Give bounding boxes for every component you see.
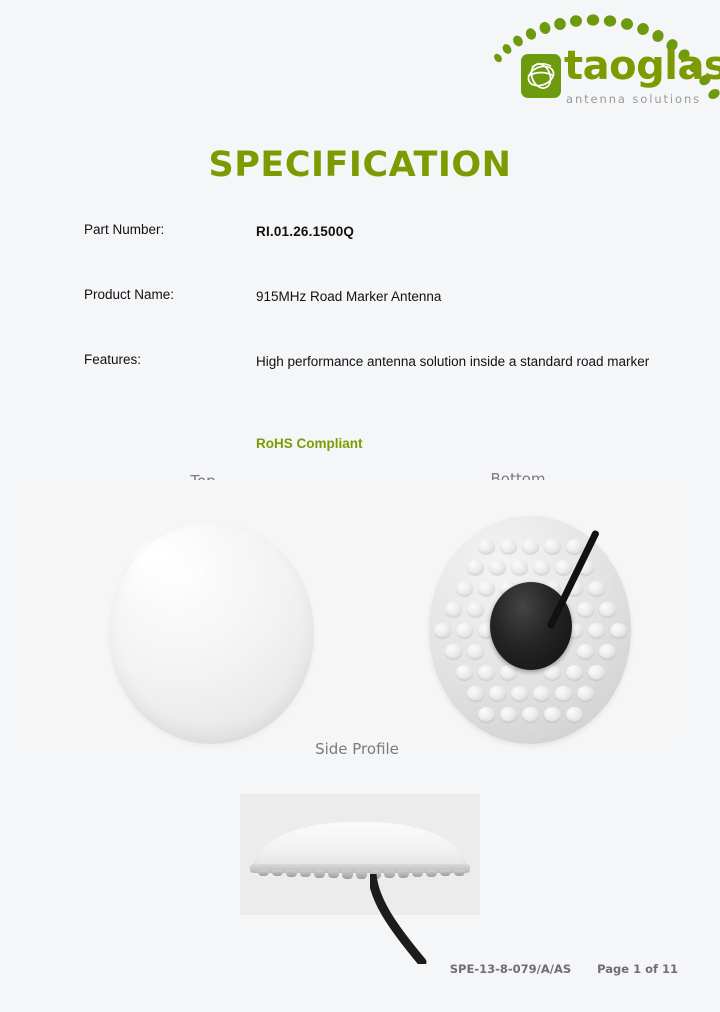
underside-dimple xyxy=(588,665,605,680)
dome-highlight-glare xyxy=(132,538,192,578)
base-dimple xyxy=(328,870,339,878)
base-dimple xyxy=(342,870,353,879)
product-photo-side-profile xyxy=(240,794,480,915)
taoglas-leaf-globe-mark xyxy=(521,54,561,98)
underside-dimple xyxy=(599,602,616,617)
underside-dimple xyxy=(456,581,473,596)
antenna-center-black-dome xyxy=(490,582,572,670)
underside-dimple xyxy=(445,644,462,659)
underside-dimple xyxy=(456,623,473,638)
underside-dimple xyxy=(588,581,605,596)
underside-dimple xyxy=(555,686,572,701)
underside-dimple xyxy=(577,602,594,617)
logo-tagline: antenna solutions xyxy=(566,92,701,106)
field-value-part-number: RI.01.26.1500Q xyxy=(256,222,656,242)
underside-dimple xyxy=(478,581,495,596)
field-label-features: Features: xyxy=(84,352,141,367)
underside-dimple xyxy=(467,644,484,659)
footer-document-code: SPE-13-8-079/A/AS xyxy=(450,962,571,976)
underside-dimple xyxy=(478,707,495,722)
underside-dimple xyxy=(566,539,583,554)
underside-dimple xyxy=(577,644,594,659)
rohs-compliance-badge: RoHS Compliant xyxy=(256,436,363,451)
underside-dimple xyxy=(533,686,550,701)
underside-dimple xyxy=(445,602,462,617)
product-photo-top xyxy=(22,480,438,738)
underside-dimple xyxy=(467,686,484,701)
underside-dimple xyxy=(566,665,583,680)
underside-dimple xyxy=(434,623,451,638)
page-footer: SPE-13-8-079/A/AS Page 1 of 11 xyxy=(0,962,720,976)
underside-dimple xyxy=(544,707,561,722)
footer-page-number: Page 1 of 11 xyxy=(597,962,678,976)
antenna-cable-side xyxy=(370,874,560,964)
underside-dimple xyxy=(566,707,583,722)
underside-dimple xyxy=(478,539,495,554)
base-dimple xyxy=(314,870,325,878)
underside-dimple xyxy=(533,560,550,575)
underside-dimple xyxy=(478,665,495,680)
underside-dimple xyxy=(544,539,561,554)
base-dimple xyxy=(300,870,311,877)
base-dimple xyxy=(286,870,297,877)
field-label-part-number: Part Number: xyxy=(84,222,164,237)
logo-wordmark: taoglas xyxy=(564,46,720,86)
base-dimple xyxy=(272,870,283,876)
brand-logo: taoglas antenna solutions xyxy=(488,8,720,116)
underside-dimple xyxy=(522,707,539,722)
underside-dimple xyxy=(500,539,517,554)
underside-dimple xyxy=(500,707,517,722)
underside-dimple xyxy=(577,686,594,701)
field-label-product-name: Product Name: xyxy=(84,287,174,302)
underside-dimple xyxy=(500,665,517,680)
base-dimple xyxy=(258,870,269,876)
view-label-side-profile: Side Profile xyxy=(297,740,417,758)
underside-dimple xyxy=(489,560,506,575)
field-value-product-name: 915MHz Road Marker Antenna xyxy=(256,287,656,307)
product-image-gallery: Top Bottom Side Profile xyxy=(0,462,720,922)
product-photo-bottom xyxy=(418,480,680,738)
underside-dimple xyxy=(511,560,528,575)
underside-dimple xyxy=(489,686,506,701)
underside-dimple xyxy=(555,560,572,575)
underside-dimple xyxy=(467,602,484,617)
underside-dimple xyxy=(467,560,484,575)
page-title: SPECIFICATION xyxy=(0,145,720,185)
underside-dimple xyxy=(522,539,539,554)
field-value-features: High performance antenna solution inside… xyxy=(256,352,656,372)
base-dimple xyxy=(356,870,367,879)
underside-dimple xyxy=(588,623,605,638)
underside-dimple xyxy=(511,686,528,701)
underside-dimple xyxy=(599,644,616,659)
antenna-dome-side-shape xyxy=(254,822,466,870)
underside-dimple xyxy=(610,623,627,638)
underside-dimple xyxy=(456,665,473,680)
